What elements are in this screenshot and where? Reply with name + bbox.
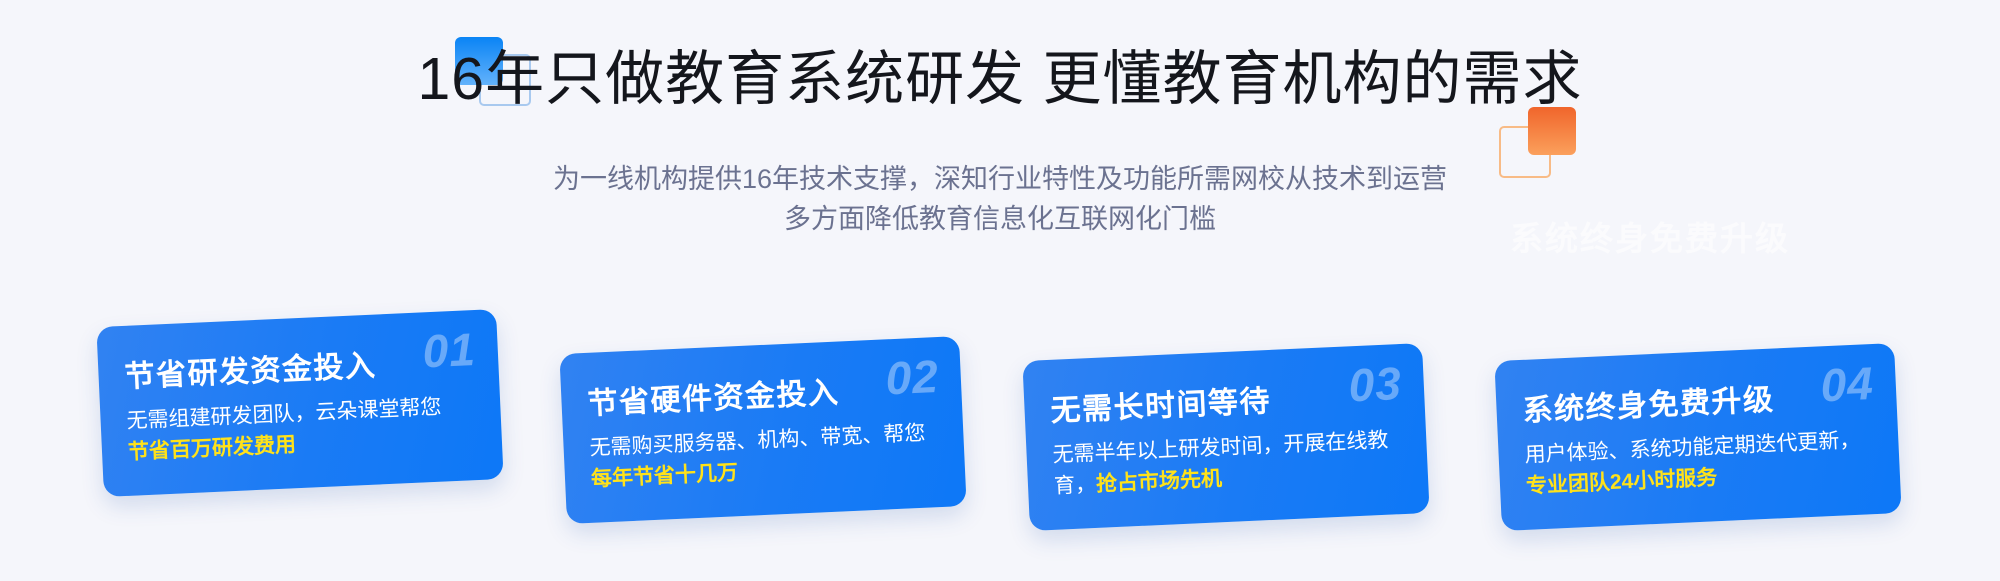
card-body-normal: 无需购买服务器、机构、带宽、帮您 bbox=[589, 422, 926, 460]
card-body-normal: 用户体验、系统功能定期迭代更新， bbox=[1524, 429, 1861, 467]
marketing-banner: 16年只做教育系统研发 更懂教育机构的需求 为一线机构提供16年技术支撑，深知行… bbox=[0, 0, 2000, 581]
card-body: 用户体验、系统功能定期迭代更新，专业团队24小时服务 bbox=[1524, 424, 1880, 502]
card-body-highlight: 专业团队24小时服务 bbox=[1526, 466, 1718, 498]
feature-card[interactable]: 01 节省研发资金投入 无需组建研发团队，云朵课堂帮您节省百万研发费用 bbox=[96, 309, 503, 497]
card-number: 04 bbox=[1819, 356, 1875, 412]
card-number: 01 bbox=[421, 322, 477, 378]
card-title: 节省硬件资金投入 bbox=[587, 368, 841, 423]
feature-card-list: 01 节省研发资金投入 无需组建研发团队，云朵课堂帮您节省百万研发费用 02 节… bbox=[0, 0, 2000, 581]
card-body: 无需购买服务器、机构、带宽、帮您每年节省十几万 bbox=[589, 417, 945, 495]
card-body: 无需半年以上研发时间，开展在线教育，抢占市场先机 bbox=[1052, 424, 1408, 502]
card-body-highlight: 抢占市场先机 bbox=[1096, 467, 1223, 496]
card-body: 无需组建研发团队，云朵课堂帮您节省百万研发费用 bbox=[126, 390, 482, 468]
card-number: 02 bbox=[884, 349, 940, 405]
card-body-highlight: 每年节省十几万 bbox=[591, 461, 739, 491]
card-body-highlight: 节省百万研发费用 bbox=[128, 433, 297, 464]
card-body-normal: 无需组建研发团队，云朵课堂帮您 bbox=[126, 396, 442, 433]
feature-card[interactable]: 02 节省硬件资金投入 无需购买服务器、机构、带宽、帮您每年节省十几万 bbox=[559, 336, 966, 524]
feature-card[interactable]: 04 系统终身免费升级 用户体验、系统功能定期迭代更新，专业团队24小时服务 bbox=[1494, 343, 1901, 531]
card-title: 系统终身免费升级 bbox=[1522, 375, 1776, 430]
card-title: 无需长时间等待 bbox=[1050, 376, 1272, 430]
card-title: 节省研发资金投入 bbox=[124, 341, 378, 396]
card-number: 03 bbox=[1347, 356, 1403, 412]
feature-card[interactable]: 03 无需长时间等待 无需半年以上研发时间，开展在线教育，抢占市场先机 bbox=[1022, 343, 1429, 531]
